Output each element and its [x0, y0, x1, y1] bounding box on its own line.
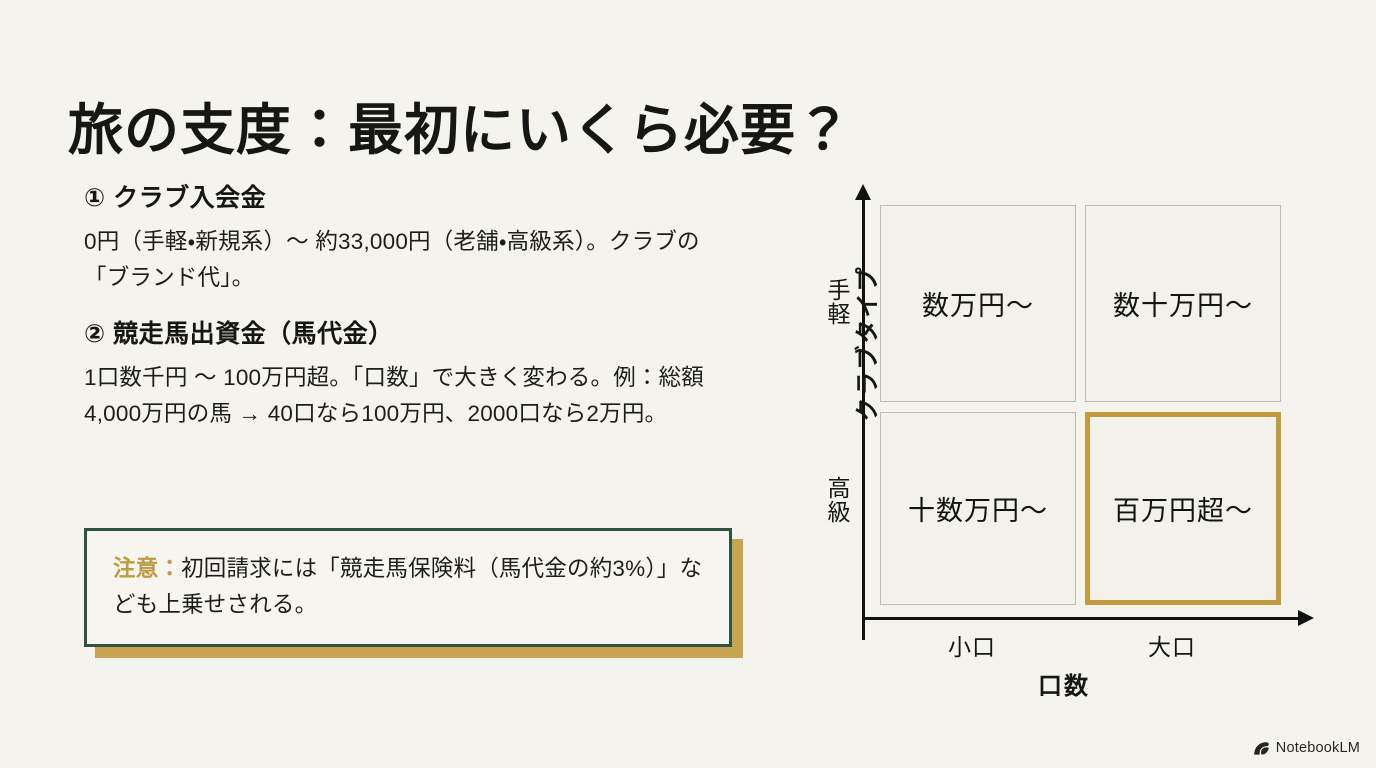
page-title: 旅の支度：最初にいくら必要？: [68, 99, 852, 164]
section-club-entry-fee: ① クラブ入会金 0円（手軽・新規系）〜 約33,000円（老舗・高級系）。クラ…: [84, 182, 724, 296]
y-axis-arrow-icon: [855, 184, 871, 200]
matrix-cell-premium-small: 十数万円〜: [880, 412, 1076, 605]
content-column: ① クラブ入会金 0円（手軽・新規系）〜 約33,000円（老舗・高級系）。クラ…: [84, 182, 724, 455]
matrix-cell-casual-small: 数万円〜: [880, 205, 1076, 402]
y-axis-title: クラブタイプ: [848, 266, 883, 422]
x-axis-tick-right: 大口: [1148, 628, 1196, 662]
y-axis-tick-bottom: 高級: [826, 476, 852, 525]
matrix-cell-label: 数万円〜: [922, 284, 1034, 323]
x-axis-arrow-icon: [1298, 610, 1314, 626]
y-axis-tick-top: 手軽: [826, 278, 852, 327]
callout-label: 注意：: [113, 556, 181, 581]
x-axis-tick-left: 小口: [948, 628, 996, 662]
notebooklm-label: NotebookLM: [1276, 740, 1360, 756]
section-horse-investment: ② 競走馬出資金（馬代金） 1口数千円 〜 100万円超。「口数」で大きく変わる…: [84, 318, 724, 432]
x-axis-title: 口数: [1038, 666, 1090, 701]
callout-wrapper: 注意：初回請求には「競走馬保険料（馬代金の約3%）」なども上乗せされる。: [84, 528, 732, 647]
slide-canvas: 旅の支度：最初にいくら必要？ ① クラブ入会金 0円（手軽・新規系）〜 約33,…: [0, 0, 1376, 768]
section-body-text: 0円（手軽・新規系）〜 約33,000円（老舗・高級系）。クラブの「ブランド代」…: [84, 224, 724, 297]
matrix-cell-label: 百万円超〜: [1113, 489, 1253, 528]
callout-body: 初回請求には「競走馬保険料（馬代金の約3%）」なども上乗せされる。: [113, 556, 702, 617]
x-axis-line: [862, 617, 1302, 620]
matrix-cell-casual-large: 数十万円〜: [1085, 205, 1281, 402]
note-callout: 注意：初回請求には「競走馬保険料（馬代金の約3%）」なども上乗せされる。: [84, 528, 732, 647]
matrix-cell-premium-large-highlighted: 百万円超〜: [1085, 412, 1281, 605]
matrix-cell-label: 十数万円〜: [908, 489, 1048, 528]
y-tick-char: 高級: [826, 476, 852, 525]
section-body-text: 1口数千円 〜 100万円超。「口数」で大きく変わる。例：総額4,000万円の馬…: [84, 360, 724, 433]
notebooklm-watermark: NotebookLM: [1253, 740, 1360, 756]
matrix-cell-label: 数十万円〜: [1113, 284, 1253, 323]
y-tick-char: 手軽: [826, 278, 852, 327]
section-body: 1口数千円 〜 100万円超。「口数」で大きく変わる。例：総額4,000万円の馬…: [84, 360, 724, 433]
section-body: 0円（手軽・新規系）〜 約33,000円（老舗・高級系）。クラブの「ブランド代」…: [84, 224, 724, 297]
section-heading: ② 競走馬出資金（馬代金）: [84, 318, 724, 351]
section-heading: ① クラブ入会金: [84, 182, 724, 215]
matrix-chart: クラブタイプ 口数 手軽 高級 小口 大口 数万円〜 数十万円〜 十数万円〜 百…: [800, 176, 1340, 706]
notebooklm-spiral-icon: [1253, 741, 1270, 756]
callout-text: 注意：初回請求には「競走馬保険料（馬代金の約3%）」なども上乗せされる。: [113, 551, 705, 624]
